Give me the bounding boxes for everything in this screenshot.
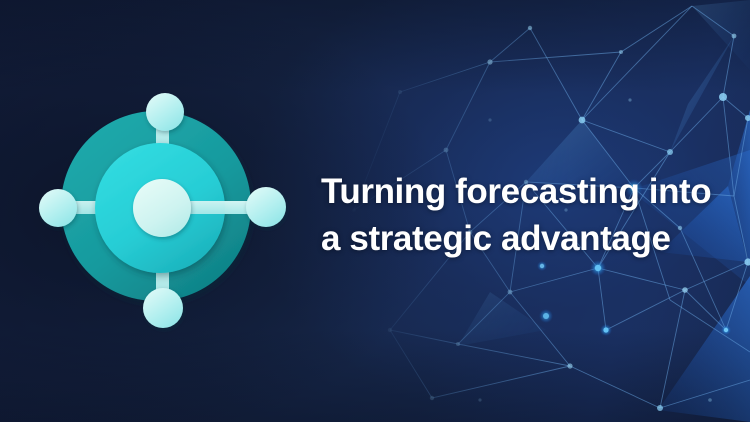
headline: Turning forecasting into a strategic adv…: [321, 168, 725, 262]
logo-node-top: [146, 93, 184, 131]
headline-line-1: Turning forecasting into: [321, 168, 725, 215]
logo-center-dot: [133, 179, 191, 237]
logo-node-right: [246, 187, 286, 227]
headline-line-2: a strategic advantage: [321, 215, 725, 262]
logo-node-left: [39, 189, 77, 227]
logo-node-bottom: [143, 288, 183, 328]
network-hub-logo: [26, 76, 294, 344]
promo-banner: Turning forecasting into a strategic adv…: [0, 0, 750, 422]
